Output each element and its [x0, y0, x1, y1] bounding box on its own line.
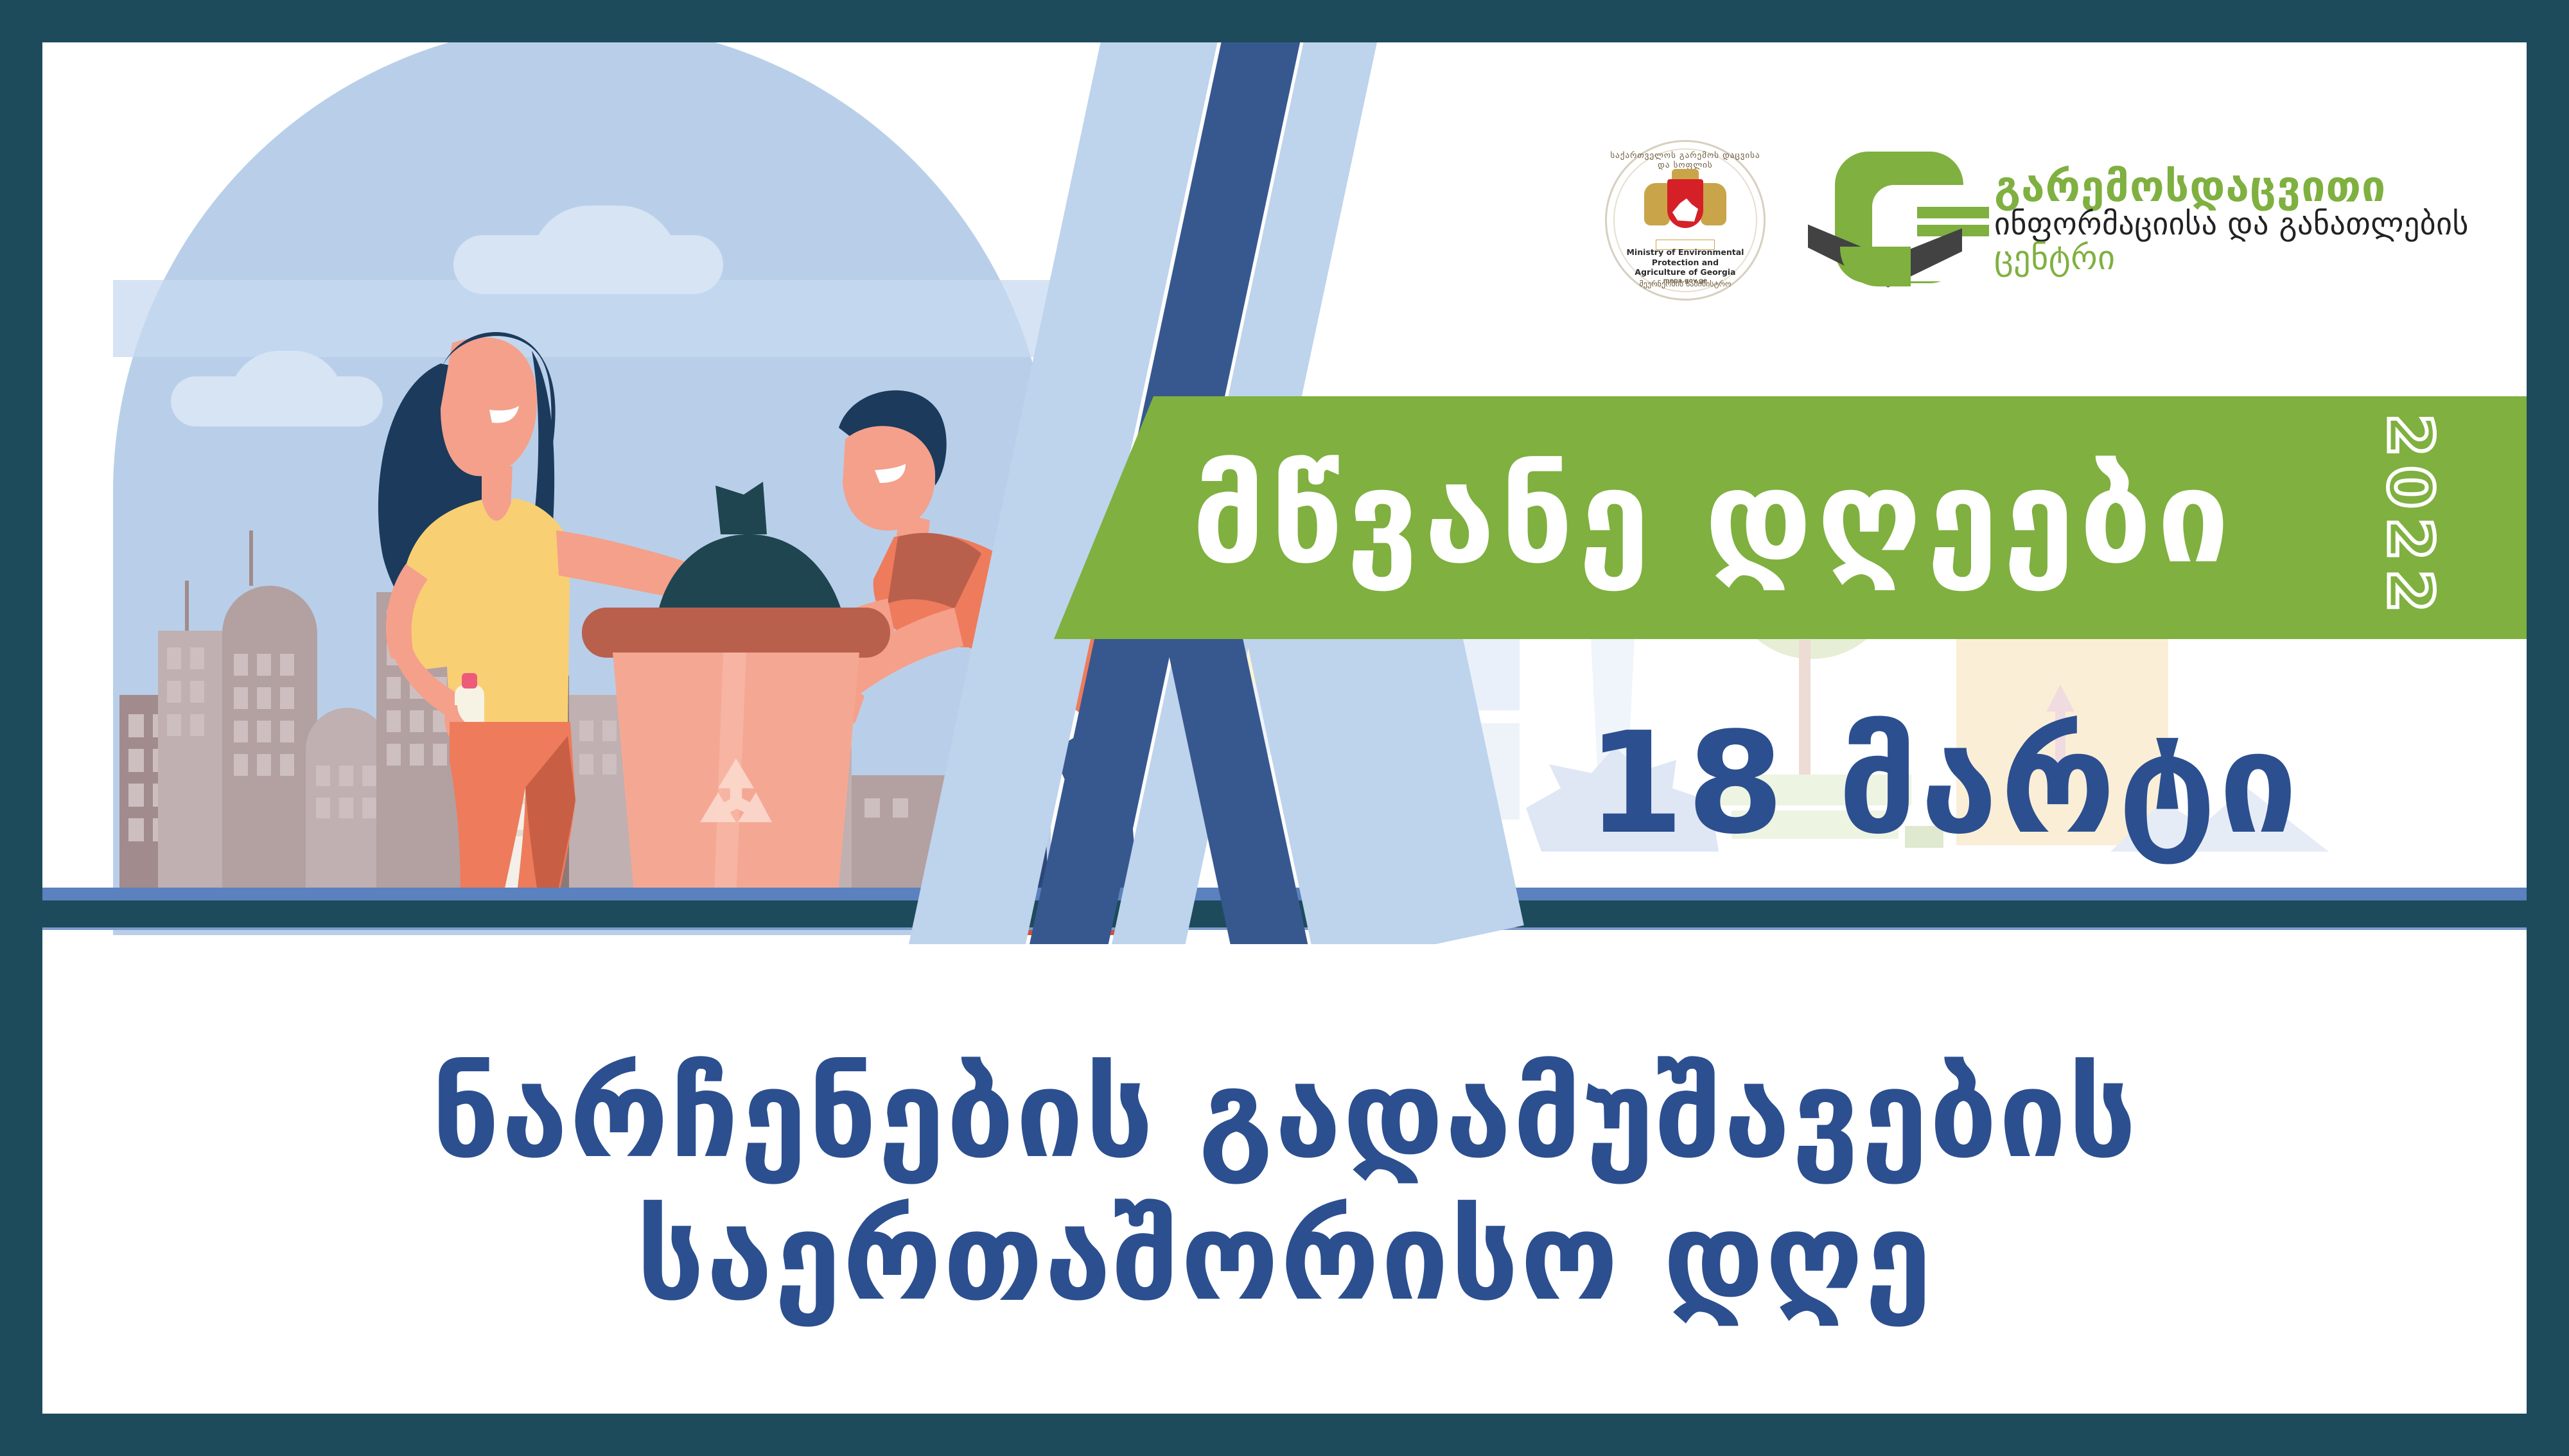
window	[167, 714, 181, 736]
window	[190, 714, 204, 736]
window	[234, 654, 248, 676]
window	[280, 654, 294, 676]
event-date-text: 18 მარტი	[1587, 714, 2301, 854]
center-logo-text: გარემოსდაცვითი ინფორმაციისა და განათლები…	[1994, 165, 2469, 276]
center-logo: გარემოსდაცვითი ინფორმაციისა და განათლები…	[1817, 145, 2469, 296]
window	[257, 687, 271, 709]
window	[280, 754, 294, 776]
emblem-georgian-bottom: მეურნეობის სამინისტრო	[1607, 279, 1764, 288]
window	[234, 754, 248, 776]
window	[257, 654, 271, 676]
building	[158, 631, 222, 888]
emblem-georgian-top: საქართველოს გარემოს დაცვისა და სოფლის	[1607, 151, 1764, 170]
window	[128, 749, 144, 772]
logo-group: საქართველოს გარემოს დაცვისა და სოფლის Mi…	[1605, 140, 2469, 301]
headline-line-2: საერთაშორისო დღე	[636, 1186, 1933, 1329]
window	[128, 818, 144, 841]
antenna-icon	[249, 531, 253, 586]
event-date: 18 მარტი	[1475, 678, 2412, 890]
window	[280, 721, 294, 742]
st-george-rider-icon	[1672, 198, 1698, 222]
window	[167, 647, 181, 669]
center-logo-line3: ცენტრი	[1994, 241, 2469, 276]
shield-icon	[1667, 179, 1703, 228]
green-banner: მწვანე დღეები 2022	[1054, 396, 2527, 639]
window	[257, 754, 271, 776]
logo-leaf	[1840, 247, 1911, 286]
banner-title: მწვანე დღეები	[1192, 453, 2234, 582]
lion-right-icon	[1701, 183, 1726, 225]
georgia-coat-of-arms-icon	[1640, 169, 1730, 246]
antenna-icon	[185, 581, 189, 631]
emblem-english-name: Ministry of Environmental Protection and…	[1607, 247, 1764, 277]
window	[316, 766, 330, 786]
poster-root: მწვანე დღეები 2022 18 მარტი საქართველოს …	[0, 0, 2569, 1456]
recycling-bin	[575, 608, 897, 929]
center-logo-line2: ინფორმაციისა და განათლების	[1994, 209, 2469, 241]
window	[128, 784, 144, 807]
window	[128, 714, 144, 737]
window	[257, 721, 271, 742]
window	[234, 721, 248, 742]
center-logo-line1: გარემოსდაცვითი	[1994, 165, 2469, 209]
lion-left-icon	[1644, 183, 1670, 225]
building	[222, 586, 317, 888]
ministry-emblem: საქართველოს გარემოს დაცვისა და სოფლის Mi…	[1605, 140, 1766, 301]
open-book-square-logo-icon	[1817, 145, 1977, 296]
headline-line-1: ნარჩენების გადამუშავების	[431, 1044, 2137, 1186]
bottom-section: ნარჩენების გადამუშავების საერთაშორისო დღ…	[42, 978, 2527, 1414]
window	[316, 798, 330, 818]
window	[234, 687, 248, 709]
window	[190, 681, 204, 703]
poster-inner-frame: მწვანე დღეები 2022 18 მარტი საქართველოს …	[42, 42, 2527, 1414]
window	[280, 687, 294, 709]
window	[190, 647, 204, 669]
logo-bar	[1917, 207, 1989, 218]
top-section: მწვანე დღეები 2022 18 მარტი საქართველოს …	[42, 42, 2527, 944]
window	[167, 681, 181, 703]
banner-year: 2022	[2374, 414, 2446, 621]
